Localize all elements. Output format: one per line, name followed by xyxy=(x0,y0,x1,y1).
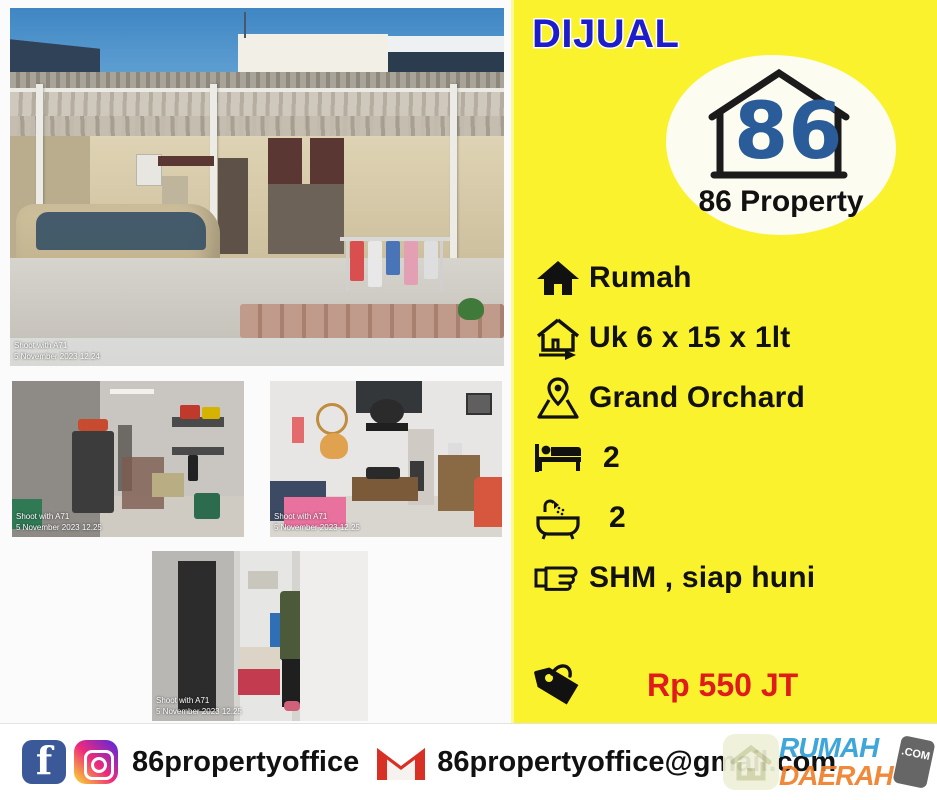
tv-cabinet xyxy=(352,477,418,501)
rack-leg-right xyxy=(440,241,443,291)
brand-logo: 86 86 Property xyxy=(656,55,906,235)
pointing-hand-icon xyxy=(527,558,589,598)
photo-timestamp: Shoot with A71 5 November 2023 12.25 xyxy=(16,511,102,533)
photo-collage: Shoot with A71 5 November 2023 12.24 xyxy=(0,0,511,723)
detail-row-dimensions: Uk 6 x 15 x 1lt xyxy=(527,308,937,368)
photo-front-exterior[interactable]: Shoot with A71 5 November 2023 12.24 xyxy=(10,8,504,366)
green-bin xyxy=(194,493,220,519)
rack-leg-left xyxy=(346,241,349,291)
watermark: RUMAH DAERAH .COM xyxy=(721,726,931,796)
ceiling-light xyxy=(110,389,154,394)
property-advertisement-poster: Shoot with A71 5 November 2023 12.24 xyxy=(0,0,937,800)
front-gate xyxy=(268,184,344,254)
photo-timestamp: Shoot with A71 5 November 2023 12.25 xyxy=(156,695,242,717)
map-pin-icon xyxy=(527,376,589,420)
bed-icon xyxy=(527,440,589,476)
table xyxy=(152,473,184,497)
electronics xyxy=(366,467,400,479)
photo-living-kitchen[interactable]: Shoot with A71 5 November 2023 12.25 xyxy=(12,381,244,537)
refrigerator xyxy=(72,431,114,513)
detail-row-certificate: SHM , siap huni xyxy=(527,548,937,608)
gmail-icon[interactable] xyxy=(375,742,427,782)
window-grille xyxy=(158,156,214,166)
hanging-cloth-3 xyxy=(386,241,400,275)
house-icon xyxy=(527,258,589,298)
laundry-rack xyxy=(340,223,450,293)
red-basket xyxy=(180,405,200,419)
house-dimension-icon xyxy=(527,316,589,360)
wall-right xyxy=(300,551,368,721)
ceiling-lamp xyxy=(248,571,278,589)
photo-family-room[interactable]: Shoot with A71 5 November 2023 12.25 xyxy=(270,381,502,537)
kettle xyxy=(188,455,198,481)
logo-brand-name: 86 Property xyxy=(656,185,906,219)
detail-value-property-type: Rumah xyxy=(589,261,692,295)
watermark-line2: DAERAH xyxy=(779,760,893,792)
open-door xyxy=(178,561,216,711)
detail-value-location: Grand Orchard xyxy=(589,381,805,415)
hanging-cloth-5 xyxy=(424,241,438,279)
dijual-banner: DIJUAL xyxy=(532,12,679,57)
wall-note xyxy=(292,417,304,443)
logo-number: 86 xyxy=(734,89,826,175)
hanging-cloth-2 xyxy=(368,241,382,287)
roof-parapet xyxy=(238,34,388,76)
slipper xyxy=(284,701,300,711)
photo-timestamp: Shoot with A71 5 November 2023 12.25 xyxy=(274,511,360,533)
hanging-cloth-1 xyxy=(350,241,364,281)
yellow-box xyxy=(202,407,220,419)
price-value: Rp 550 JT xyxy=(589,667,798,704)
watermark-com-badge: .COM xyxy=(892,735,935,789)
photo-timestamp: Shoot with A71 5 November 2023 12.24 xyxy=(14,340,100,362)
detail-value-bedrooms: 2 xyxy=(589,441,620,475)
wall-frame xyxy=(466,393,492,415)
front-door xyxy=(218,158,248,254)
bathtub-icon xyxy=(527,496,589,540)
detail-row-bathrooms: 2 xyxy=(527,488,937,548)
window-brown-2 xyxy=(310,138,344,184)
fan-bracket xyxy=(366,423,408,431)
watermark-house-icon xyxy=(723,734,779,790)
canopy-post-right xyxy=(450,84,457,274)
detail-row-location: Grand Orchard xyxy=(527,368,937,428)
wall-clock xyxy=(316,403,348,435)
metal-rack-mid xyxy=(172,447,224,455)
detail-row-property-type: Rumah xyxy=(527,248,937,308)
wall-fan xyxy=(370,399,404,425)
watermark-suffix: .COM xyxy=(898,745,934,764)
photo-bedroom-hall[interactable]: Shoot with A71 5 November 2023 12.25 xyxy=(152,551,368,721)
wall-ornament xyxy=(320,433,348,459)
neighbour-eave-right xyxy=(384,36,504,52)
detail-value-certificate: SHM , siap huni xyxy=(589,561,815,595)
social-handle: 86propertyoffice xyxy=(132,746,359,779)
price-tag-icon xyxy=(527,660,589,710)
detail-rows: Rumah Uk 6 x 15 x 1lt xyxy=(527,248,937,608)
listing-info-panel: DIJUAL 86 86 Property Rumah xyxy=(511,0,937,723)
red-sofa xyxy=(474,477,502,527)
car-window xyxy=(36,212,206,250)
antenna xyxy=(244,12,246,38)
price-row: Rp 550 JT xyxy=(527,655,937,715)
instagram-lens xyxy=(91,757,107,773)
window-brown-1 xyxy=(268,138,302,184)
photo-frame xyxy=(448,443,462,455)
detail-value-dimensions: Uk 6 x 15 x 1lt xyxy=(589,321,790,355)
detail-value-bathrooms: 2 xyxy=(589,501,626,535)
instagram-icon[interactable] xyxy=(74,740,118,784)
detail-row-bedrooms: 2 xyxy=(527,428,937,488)
potted-plant xyxy=(458,298,484,320)
red-container xyxy=(78,419,108,431)
facebook-icon[interactable] xyxy=(22,740,66,784)
bed-base xyxy=(238,669,280,695)
hanging-cloth-4 xyxy=(404,241,418,285)
